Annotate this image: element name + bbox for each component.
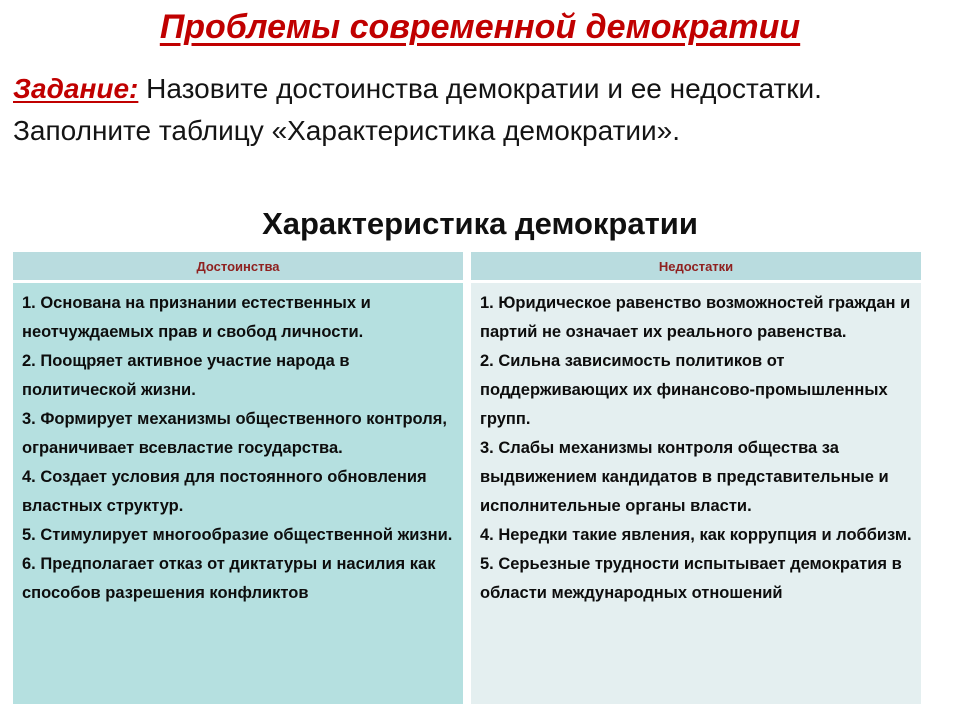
list-item: 4. Создает условия для постоянного обнов…: [22, 463, 455, 521]
table-cell-advantages: 1. Основана на признании естественных и …: [13, 283, 463, 704]
column-divider-body: [463, 283, 471, 704]
list-item: 3. Слабы механизмы контроля общества за …: [480, 434, 913, 521]
table-caption: Характеристика демократии: [0, 206, 960, 242]
list-item: 5. Стимулирует многообразие общественной…: [22, 521, 455, 550]
table-body-row: 1. Основана на признании естественных и …: [13, 283, 921, 704]
table-cell-disadvantages: 1. Юридическое равенство возможностей гр…: [471, 283, 921, 704]
characteristics-table: Достоинства Недостатки 1. Основана на пр…: [13, 252, 921, 704]
page-title: Проблемы современной демократии: [0, 8, 960, 47]
table-header-disadvantages: Недостатки: [471, 252, 921, 280]
list-item: 4. Нередки такие явления, как коррупция …: [480, 521, 913, 550]
list-item: 2. Сильна зависимость политиков от подде…: [480, 347, 913, 434]
list-item: 1. Основана на признании естественных и …: [22, 289, 455, 347]
list-item: 1. Юридическое равенство возможностей гр…: [480, 289, 913, 347]
column-divider: [463, 252, 471, 280]
table-header-row: Достоинства Недостатки: [13, 252, 921, 280]
list-item: 5. Серьезные трудности испытывает демокр…: [480, 550, 913, 608]
list-item: 2. Поощряет активное участие народа в по…: [22, 347, 455, 405]
task-paragraph: Задание: Назовите достоинства демократии…: [13, 68, 943, 152]
table-header-advantages: Достоинства: [13, 252, 463, 280]
list-item: 6. Предполагает отказ от диктатуры и нас…: [22, 550, 455, 608]
page-title-text: Проблемы современной демократии: [160, 8, 800, 46]
task-label: Задание:: [13, 73, 138, 104]
list-item: 3. Формирует механизмы общественного кон…: [22, 405, 455, 463]
